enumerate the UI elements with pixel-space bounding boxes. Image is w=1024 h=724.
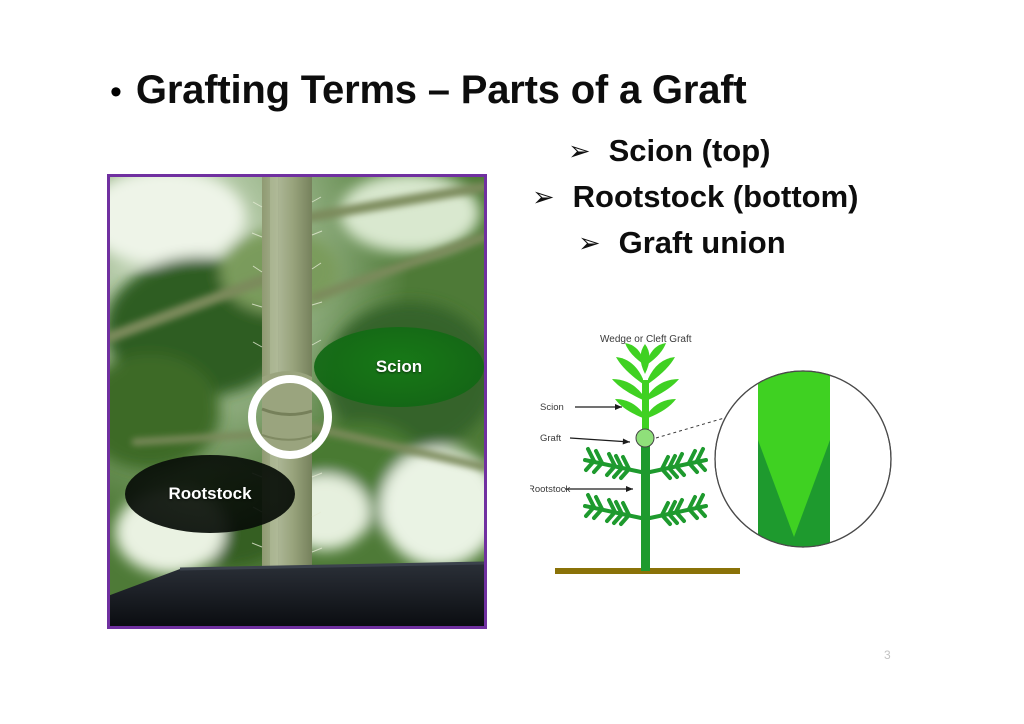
magnified-graft-union bbox=[715, 362, 891, 550]
photo-label-text: Rootstock bbox=[168, 484, 251, 504]
term-label: Rootstock (bottom) bbox=[573, 179, 859, 215]
term-item-rootstock: ➢ Rootstock (bottom) bbox=[520, 179, 940, 215]
title-text: Grafting Terms – Parts of a Graft bbox=[136, 68, 747, 113]
wedge-cleft-graft-diagram: Wedge or Cleft Graft bbox=[530, 322, 910, 594]
terms-list: ➢ Scion (top) ➢ Rootstock (bottom) ➢ Gra… bbox=[520, 133, 940, 271]
term-item-graft-union: ➢ Graft union bbox=[520, 225, 940, 261]
graft-point-marker bbox=[636, 429, 654, 447]
term-label: Graft union bbox=[619, 225, 786, 261]
diagram-label-rootstock: Rootstock bbox=[530, 484, 570, 495]
arrow-bullet-icon: ➢ bbox=[532, 184, 555, 211]
photo-label-rootstock: Rootstock bbox=[125, 455, 295, 533]
term-label: Scion (top) bbox=[609, 133, 771, 169]
graft-union-highlight-circle bbox=[248, 375, 332, 459]
term-item-scion: ➢ Scion (top) bbox=[520, 133, 940, 169]
photo-label-text: Scion bbox=[376, 357, 422, 377]
slide-canvas: • Grafting Terms – Parts of a Graft ➢ Sc… bbox=[0, 0, 1024, 724]
page-title: • Grafting Terms – Parts of a Graft bbox=[110, 68, 747, 113]
graft-photo: Scion Rootstock bbox=[107, 174, 487, 629]
photo-label-scion: Scion bbox=[314, 327, 484, 407]
diagram-label-scion: Scion bbox=[540, 402, 564, 413]
rootstock-stem bbox=[641, 435, 650, 571]
page-number: 3 bbox=[884, 648, 891, 662]
diagram-label-graft: Graft bbox=[540, 433, 561, 444]
title-bullet-icon: • bbox=[110, 75, 122, 109]
diagram-title: Wedge or Cleft Graft bbox=[600, 334, 692, 345]
arrow-bullet-icon: ➢ bbox=[578, 230, 601, 257]
diagram-svg: Wedge or Cleft Graft bbox=[530, 322, 910, 594]
arrow-bullet-icon: ➢ bbox=[568, 138, 591, 165]
